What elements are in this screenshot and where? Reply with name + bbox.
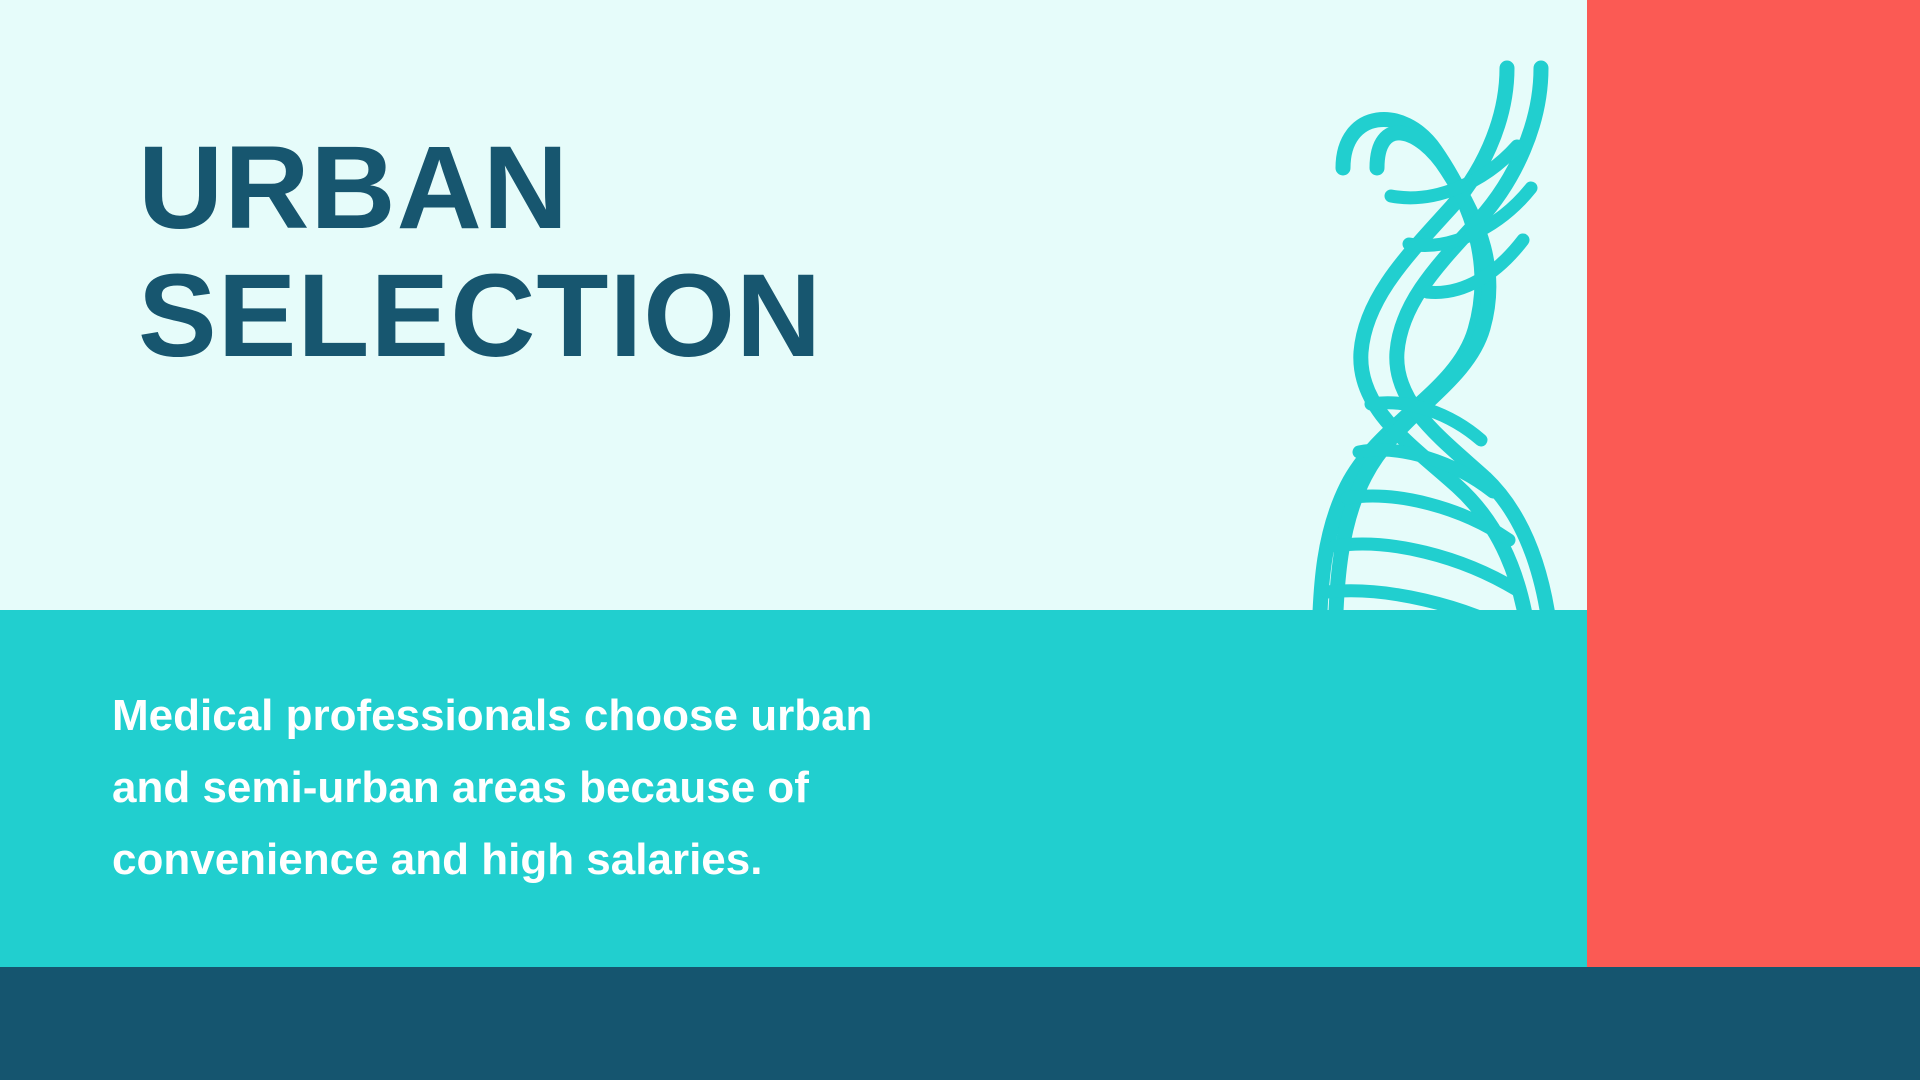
title-line-1: URBAN bbox=[138, 124, 1138, 252]
subtitle-text: Medical professionals choose urban and s… bbox=[112, 680, 1212, 896]
footer-dark-band bbox=[0, 967, 1920, 1080]
slide-canvas: URBAN SELECTION Medical professionals ch… bbox=[0, 0, 1920, 1080]
subtitle-line-1: Medical professionals choose urban bbox=[112, 680, 1212, 752]
subtitle-line-2: and semi-urban areas because of bbox=[112, 752, 1212, 824]
page-title: URBAN SELECTION bbox=[138, 124, 1138, 380]
subtitle-line-3: convenience and high salaries. bbox=[112, 824, 1212, 896]
accent-red-band bbox=[1587, 0, 1920, 967]
title-line-2: SELECTION bbox=[138, 252, 1138, 380]
